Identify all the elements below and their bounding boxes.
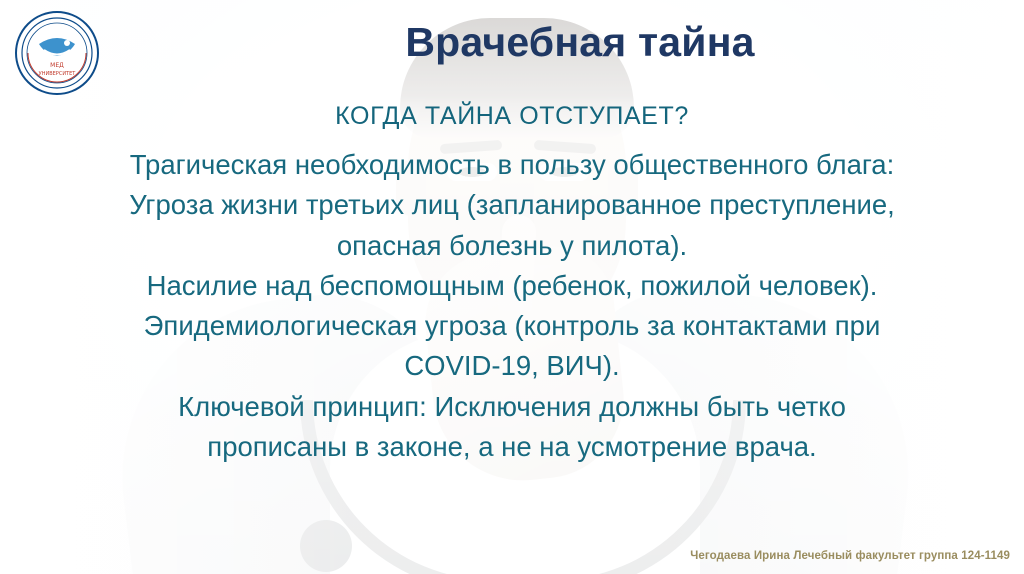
body-line-6: COVID-19, ВИЧ). [60, 348, 964, 384]
body-line-8: прописаны в законе, а не на усмотрение в… [60, 429, 964, 465]
slide-body: КОГДА ТАЙНА ОТСТУПАЕТ? Трагическая необх… [60, 100, 964, 469]
body-line-1: Трагическая необходимость в пользу общес… [60, 147, 964, 183]
body-subhead: КОГДА ТАЙНА ОТСТУПАЕТ? [60, 100, 964, 133]
svg-text:МЕД: МЕД [50, 62, 64, 69]
slide-title: Врачебная тайна [160, 20, 1000, 65]
svg-text:УНИВЕРСИТЕТ: УНИВЕРСИТЕТ [39, 71, 77, 77]
body-line-2: Угроза жизни третьих лиц (запланированно… [60, 187, 964, 223]
slide: МЕД УНИВЕРСИТЕТ Врачебная тайна КОГДА ТА… [0, 0, 1024, 574]
slide-footer-credit: Чегодаева Ирина Лечебный факультет групп… [690, 550, 1010, 562]
body-line-3: опасная болезнь у пилота). [60, 228, 964, 264]
body-line-5: Эпидемиологическая угроза (контроль за к… [60, 308, 964, 344]
body-line-7: Ключевой принцип: Исключения должны быть… [60, 389, 964, 425]
university-logo-icon: МЕД УНИВЕРСИТЕТ [14, 10, 100, 96]
body-line-4: Насилие над беспомощным (ребенок, пожило… [60, 268, 964, 304]
